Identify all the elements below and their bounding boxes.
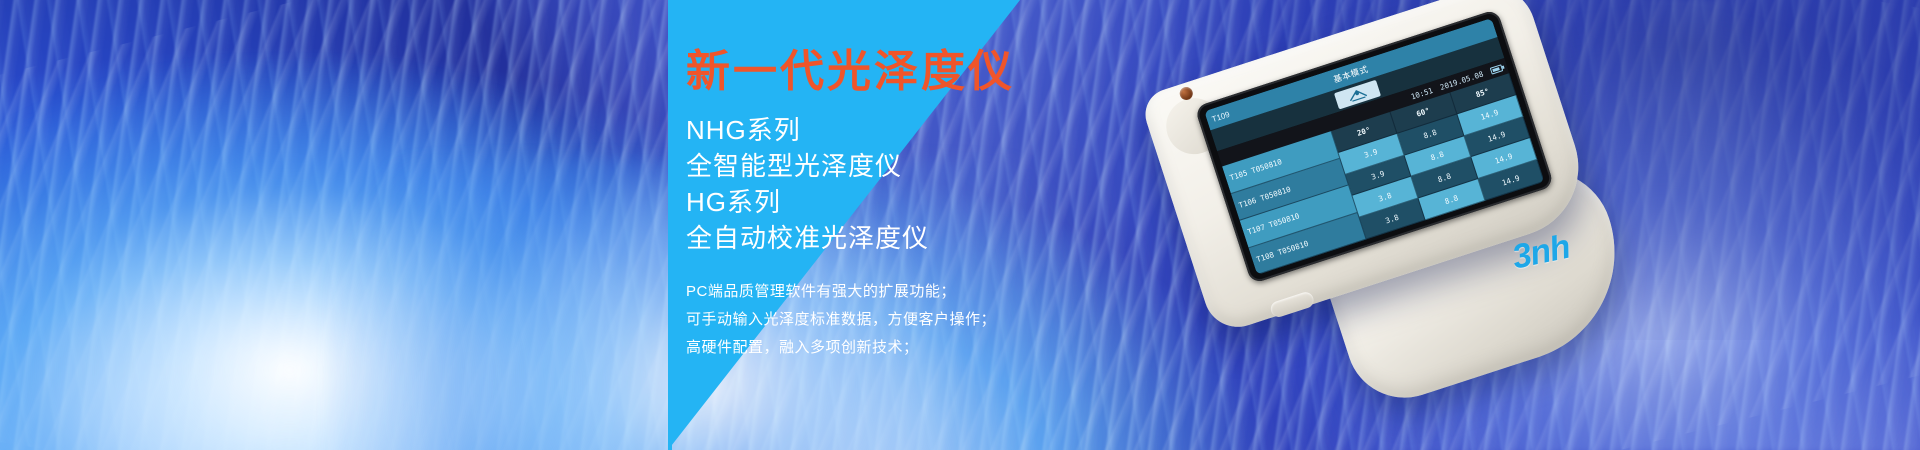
feature-item: 高硬件配置，融入多项创新技术； — [686, 334, 996, 362]
device-screen-bezel: T109 基本模式 — [1194, 9, 1554, 284]
battery-icon — [1490, 64, 1504, 74]
device-side-button[interactable] — [1269, 290, 1316, 319]
screen-sample-label: T109 — [1211, 109, 1231, 123]
gloss-meter-device: T109 基本模式 — [1060, 10, 1620, 430]
product-line-item: NHG系列 — [686, 112, 929, 148]
product-line-item: HG系列 — [686, 184, 929, 220]
product-line-item: 全智能型光泽度仪 — [686, 148, 929, 184]
device-body: T109 基本模式 — [1139, 0, 1621, 412]
device-lcd-screen[interactable]: T109 基本模式 — [1204, 18, 1544, 275]
product-banner: 新一代光泽度仪 NHG系列 全智能型光泽度仪 HG系列 全自动校准光泽度仪 PC… — [0, 0, 1920, 450]
banner-headline: 新一代光泽度仪 — [686, 50, 1015, 94]
measure-icon-glyph — [1345, 85, 1370, 103]
feature-item: 可手动输入光泽度标准数据，方便客户操作； — [686, 306, 996, 334]
feature-list: PC端品质管理软件有强大的扩展功能； 可手动输入光泽度标准数据，方便客户操作； … — [686, 278, 996, 362]
product-line-item: 全自动校准光泽度仪 — [686, 220, 929, 256]
feature-item: PC端品质管理软件有强大的扩展功能； — [686, 278, 996, 306]
product-line-list: NHG系列 全智能型光泽度仪 HG系列 全自动校准光泽度仪 — [686, 112, 929, 256]
